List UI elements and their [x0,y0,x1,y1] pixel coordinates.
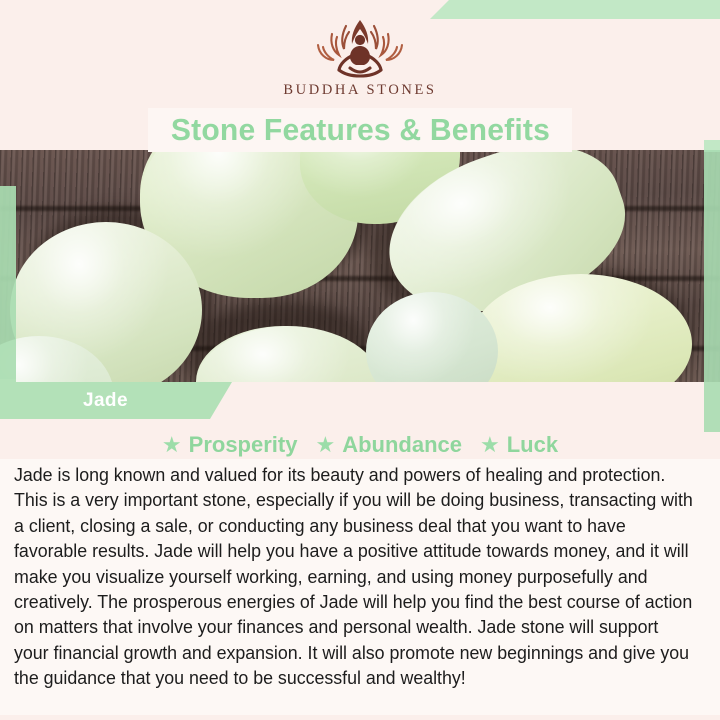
star-icon: ★ [480,434,500,456]
description-panel: Jade is long known and valued for its be… [0,459,720,715]
brand-name: BUDDHA STONES [283,82,436,99]
benefit-label: Prosperity [189,432,298,458]
description-text: Jade is long known and valued for its be… [14,463,694,692]
decor-left-strip [0,186,16,401]
page-title: Stone Features & Benefits [170,112,549,148]
benefits-row: ★ Prosperity ★ Abundance ★ Luck [0,432,720,458]
benefit-item: ★ Abundance [315,432,462,458]
benefit-item: ★ Luck [480,432,558,458]
stone-info-card: BUDDHA STONES Stone Features & Benefits [0,0,720,720]
brand-logo: BUDDHA STONES [0,14,720,106]
title-banner: Stone Features & Benefits [148,108,572,152]
star-icon: ★ [162,434,182,456]
lotus-meditation-icon [302,14,418,80]
content-section: ★ Prosperity ★ Abundance ★ Luck Jade is … [0,419,720,720]
decor-right-strip [704,150,720,432]
benefit-label: Luck [507,432,558,458]
benefit-label: Abundance [342,432,462,458]
stone-photo [0,150,720,382]
star-icon: ★ [315,434,335,456]
benefit-item: ★ Prosperity [162,432,298,458]
stone-name: Jade [83,390,128,412]
stone-name-banner: Jade [0,382,232,419]
